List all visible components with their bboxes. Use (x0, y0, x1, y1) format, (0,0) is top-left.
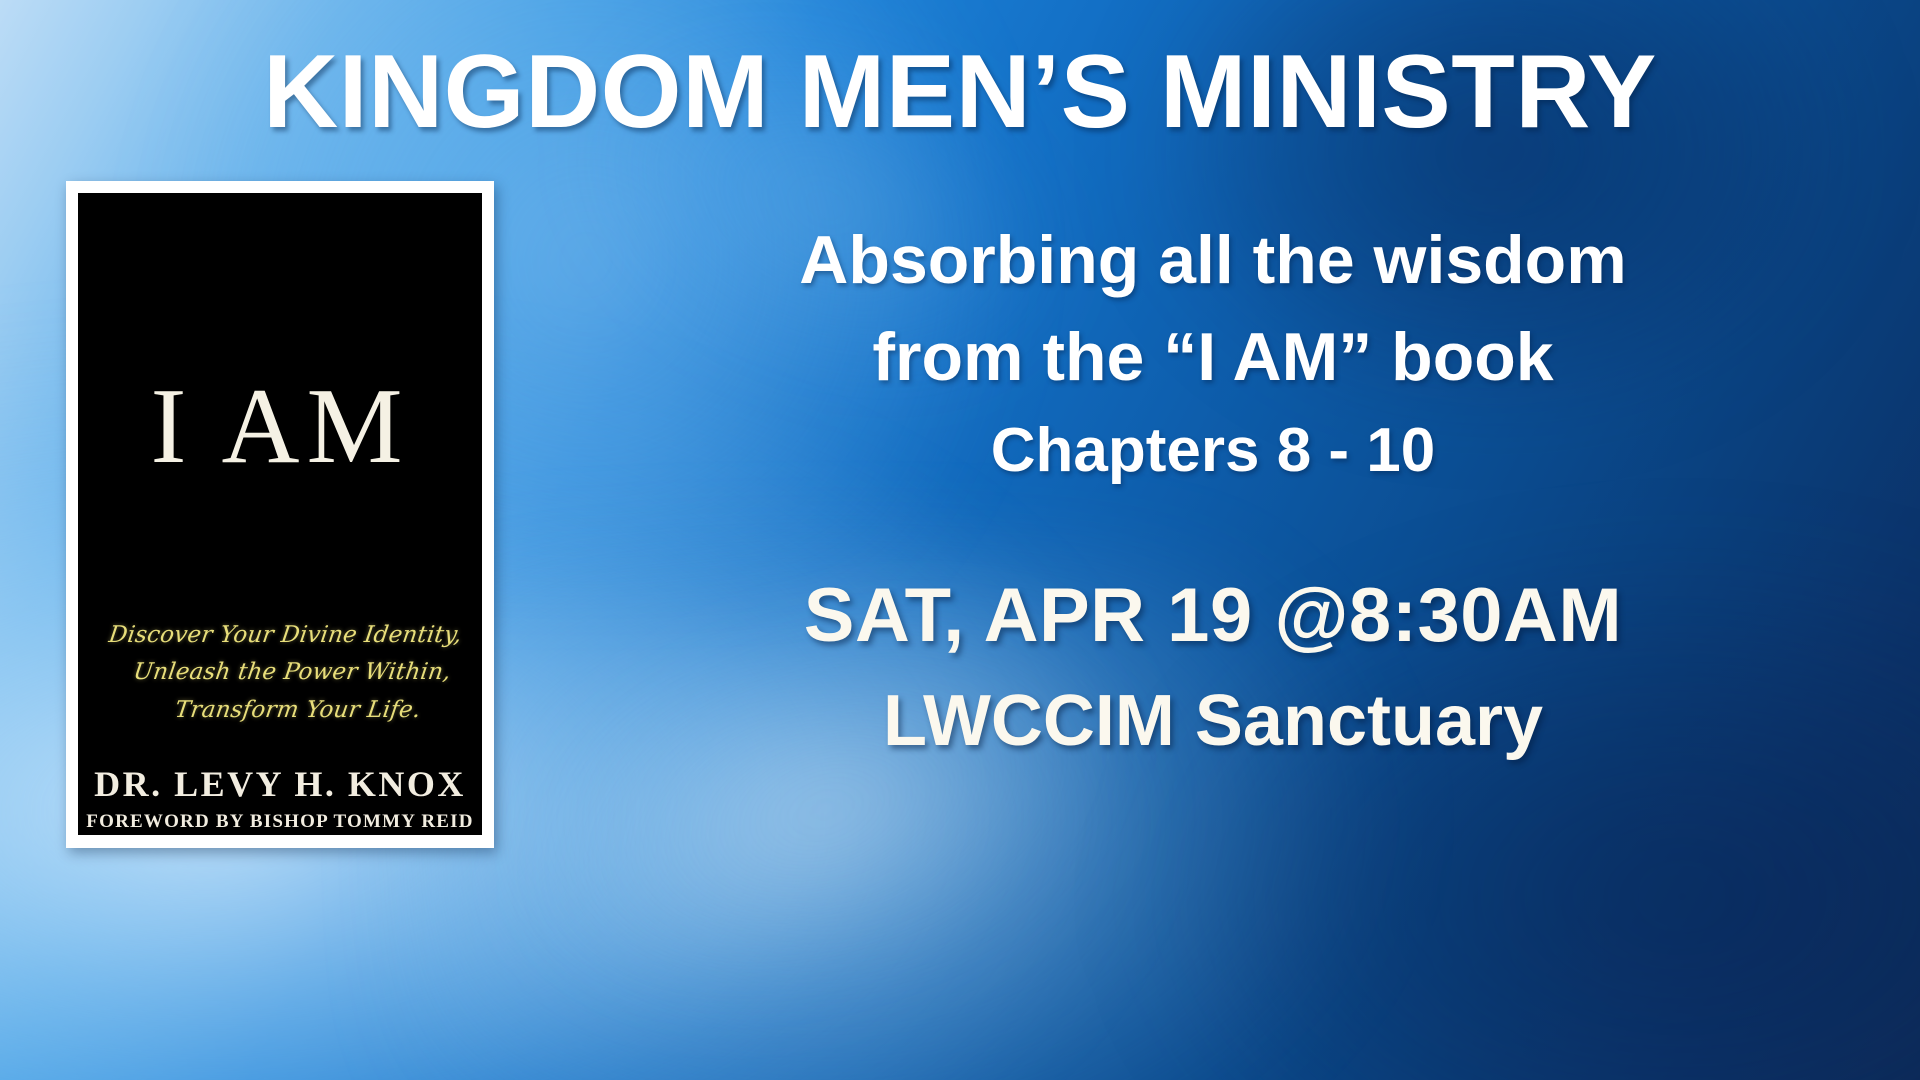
event-chapters: Chapters 8 - 10 (560, 415, 1866, 486)
event-venue: LWCCIM Sanctuary (560, 678, 1866, 764)
book-title: I AM (78, 373, 482, 481)
flyer-headline: KINGDOM MEN’S MINISTRY (0, 38, 1920, 147)
event-description-line-2: from the “I AM” book (560, 309, 1866, 406)
event-date: SAT, APR 19 @8:30AM (560, 570, 1866, 661)
book-cover-frame: I AM Discover Your Divine Identity, Unle… (66, 181, 494, 848)
book-subtitle-line-1: Discover Your Divine Identity, (99, 617, 472, 654)
book-subtitle-line-3: Transform Your Life. (88, 692, 461, 729)
event-description: Absorbing all the wisdom from the “I AM”… (560, 212, 1866, 405)
event-description-line-1: Absorbing all the wisdom (560, 212, 1866, 309)
book-author: DR. LEVY H. KNOX (78, 763, 482, 805)
flyer-details-column: Absorbing all the wisdom from the “I AM”… (560, 212, 1866, 764)
book-cover: I AM Discover Your Divine Identity, Unle… (78, 193, 482, 835)
book-subtitle: Discover Your Divine Identity, Unleash t… (88, 617, 472, 729)
event-flyer: KINGDOM MEN’S MINISTRY I AM Discover You… (0, 0, 1920, 1080)
book-subtitle-line-2: Unleash the Power Within, (93, 654, 466, 691)
book-foreword: FOREWORD BY BISHOP TOMMY REID (78, 811, 482, 833)
